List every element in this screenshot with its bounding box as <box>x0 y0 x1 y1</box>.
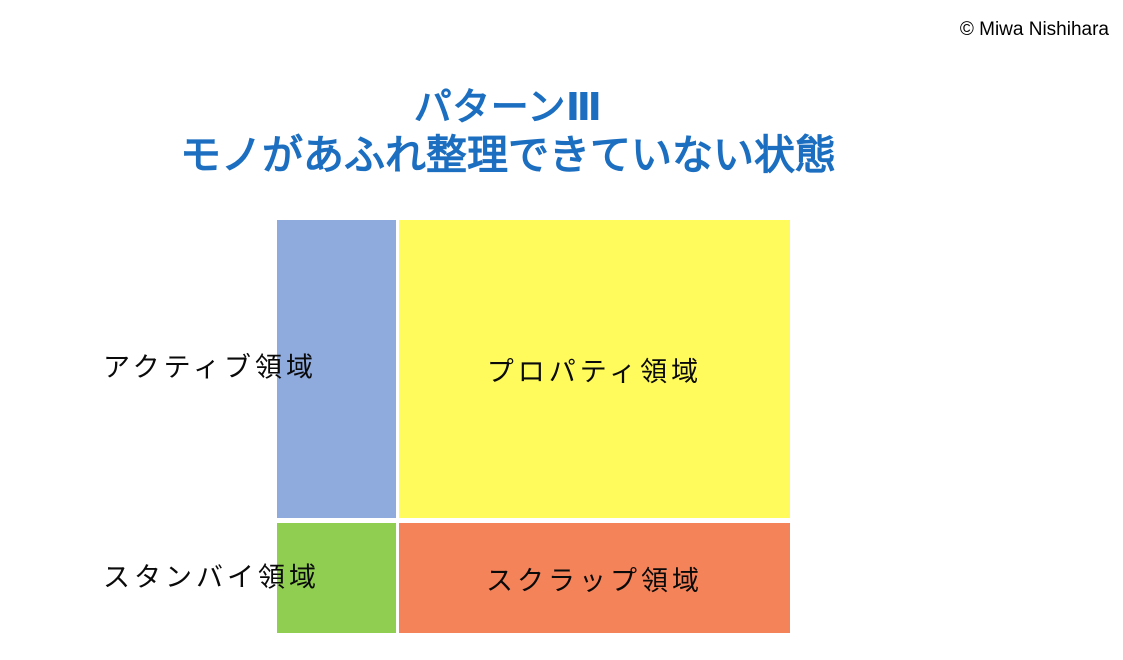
copyright-notice: © Miwa Nishihara <box>960 20 1109 39</box>
block-scrap-label: スクラップ領域 <box>486 559 703 598</box>
quadrant-diagram: プロパティ領域 スクラップ領域 <box>277 220 790 633</box>
left-label-standby: スタンバイ領域 <box>103 565 320 592</box>
slide-canvas: © Miwa Nishihara パターンⅢ モノがあふれ整理できていない状態 … <box>0 0 1123 660</box>
block-property-label: プロパティ領域 <box>487 350 702 389</box>
block-property-area: プロパティ領域 <box>399 220 790 518</box>
page-title: パターンⅢ モノがあふれ整理できていない状態 <box>0 84 1016 180</box>
title-line-2: モノがあふれ整理できていない状態 <box>0 130 1016 180</box>
left-label-active: アクティブ領域 <box>103 355 317 382</box>
title-line-1: パターンⅢ <box>0 84 1016 130</box>
block-scrap-area: スクラップ領域 <box>399 523 790 633</box>
